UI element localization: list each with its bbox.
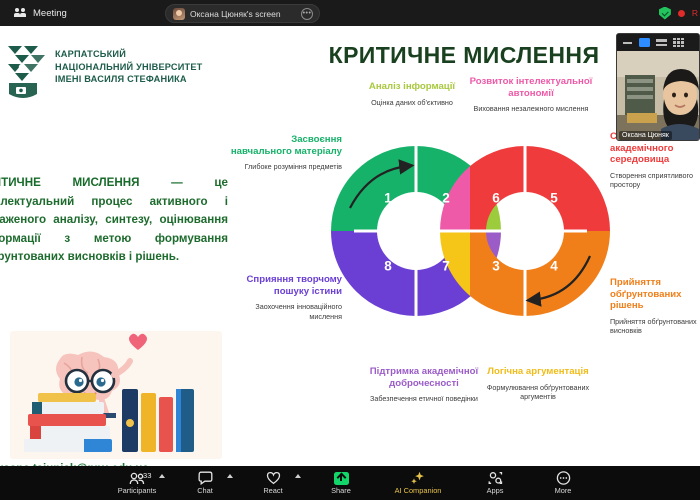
gallery-view-icon[interactable]: [673, 38, 684, 47]
callout-autonomy-subtitle: Виховання незалежного мислення: [469, 104, 593, 113]
participants-icon: [14, 8, 27, 19]
definition-paragraph: КРИТИЧНЕ МИСЛЕННЯ — це інтелектуальний п…: [0, 174, 228, 267]
toolbar-apps-label: Apps: [487, 486, 504, 495]
apps-icon: [488, 471, 503, 485]
toolbar-participants-button[interactable]: 33 Participants: [103, 466, 171, 500]
toolbar-chat-button[interactable]: Chat: [171, 466, 239, 500]
toolbar-share-button[interactable]: Share: [307, 466, 375, 500]
callout-logic-title: Логічна аргументація: [478, 366, 598, 378]
video-participant-name: Оксана Цюняк: [619, 131, 672, 140]
callout-logic-subtitle: Формулювання обґрунтованих аргументів: [478, 383, 598, 402]
callout-assimilation-title: Засвоєння навчального матеріалу: [230, 134, 342, 157]
meeting-bottom-toolbar: 33 Participants Chat React: [0, 466, 700, 500]
record-indicator: [678, 10, 685, 17]
toolbar-more-label: More: [555, 486, 572, 495]
callout-analysis: Аналіз інформації Оцінка даних об'єктивн…: [356, 81, 468, 107]
callout-analysis-title: Аналіз інформації: [356, 81, 468, 93]
callout-logic: Логічна аргументація Формулювання обґрун…: [478, 366, 598, 401]
ai-sparkle-icon: [410, 471, 426, 485]
callout-environment-subtitle: Створення сприятливого простору: [610, 171, 700, 190]
chevron-up-icon[interactable]: [295, 474, 301, 478]
callout-decisions-subtitle: Прийняття обґрунтованих висновків: [610, 317, 700, 336]
toolbar-react-label: React: [263, 486, 282, 495]
university-crest-logo: [6, 44, 46, 102]
chevron-up-icon[interactable]: [159, 474, 165, 478]
video-layout-controls: [617, 34, 699, 51]
callout-decisions-title: Прийняття обґрунтованих рішень: [610, 277, 700, 312]
toolbar-share-label: Share: [331, 486, 351, 495]
top-bar-status-group: R: [659, 0, 700, 26]
callout-creativity-subtitle: Заохочення інноваційного мислення: [230, 302, 342, 321]
toolbar-react-button[interactable]: React: [239, 466, 307, 500]
meeting-label: Meeting: [33, 8, 67, 19]
presenter-avatar: [173, 8, 185, 20]
shared-screen-slide: КАРПАТСЬКИЙ НАЦІОНАЛЬНИЙ УНІВЕРСИТЕТ ІМЕ…: [0, 26, 700, 466]
ellipsis-icon[interactable]: •••: [301, 8, 313, 20]
definition-body: це інтелектуальний процес активного і ви…: [0, 176, 228, 263]
heart-icon: [266, 471, 281, 485]
zoom-meeting-window: Meeting Оксана Цюняк's screen ••• R: [0, 0, 700, 500]
definition-lead: КРИТИЧНЕ МИСЛЕННЯ —: [0, 176, 183, 189]
callout-creativity: Сприяння творчому пошуку істини Заохочен…: [230, 274, 342, 321]
meeting-info[interactable]: Meeting: [14, 8, 67, 19]
toolbar-chat-label: Chat: [197, 486, 213, 495]
shield-check-icon[interactable]: [659, 7, 671, 20]
callout-analysis-subtitle: Оцінка даних об'єктивно: [356, 98, 468, 107]
university-name: КАРПАТСЬКИЙ НАЦІОНАЛЬНИЙ УНІВЕРСИТЕТ ІМЕ…: [55, 44, 202, 86]
self-video-panel[interactable]: Оксана Цюняк: [616, 33, 700, 141]
recording-label: R: [692, 8, 698, 18]
meeting-top-bar: Meeting Оксана Цюняк's screen ••• R: [0, 0, 700, 26]
university-name-line3: ІМЕНІ ВАСИЛЯ СТЕФАНИКА: [55, 73, 202, 86]
university-branding: КАРПАТСЬКИЙ НАЦІОНАЛЬНИЙ УНІВЕРСИТЕТ ІМЕ…: [6, 44, 202, 102]
share-screen-icon: [334, 471, 349, 485]
infinity-diagram: 1 2 3 4 5 6 7 8: [328, 86, 613, 376]
callout-creativity-title: Сприяння творчому пошуку істини: [230, 274, 342, 297]
participants-count: 33: [143, 471, 151, 480]
screen-share-pill[interactable]: Оксана Цюняк's screen •••: [165, 4, 320, 23]
callout-assimilation: Засвоєння навчального матеріалу Глибоке …: [230, 134, 342, 172]
callout-decisions: Прийняття обґрунтованих рішень Прийняття…: [610, 277, 700, 336]
presenter-share-label: Оксана Цюняк's screen: [190, 9, 281, 19]
callout-integrity: Підтримка академічної доброчесності Забе…: [365, 366, 483, 404]
callout-autonomy: Розвиток інтелектуальної автономії Вихов…: [469, 76, 593, 114]
callout-assimilation-subtitle: Глибоке розуміння предметів: [230, 162, 342, 171]
more-ellipsis-icon: [556, 471, 571, 485]
chevron-up-icon[interactable]: [227, 474, 233, 478]
speaker-view-icon[interactable]: [622, 38, 633, 47]
university-name-line1: КАРПАТСЬКИЙ: [55, 48, 202, 61]
university-name-line2: НАЦІОНАЛЬНИЙ УНІВЕРСИТЕТ: [55, 61, 202, 74]
toolbar-ai-companion-label: AI Companion: [395, 486, 442, 495]
toolbar-apps-button[interactable]: Apps: [461, 466, 529, 500]
strip-view-icon[interactable]: [656, 38, 667, 47]
chat-icon: [198, 471, 213, 485]
video-feed: Оксана Цюняк: [617, 51, 699, 141]
toolbar-more-button[interactable]: More: [529, 466, 597, 500]
slide-left-column: КАРПАТСЬКИЙ НАЦІОНАЛЬНИЙ УНІВЕРСИТЕТ ІМЕ…: [0, 26, 228, 466]
callout-integrity-subtitle: Забезпечення етичної поведінки: [365, 394, 483, 403]
toolbar-ai-companion-button[interactable]: AI Companion: [375, 466, 461, 500]
brain-with-books-illustration: [10, 331, 222, 459]
callout-integrity-title: Підтримка академічної доброчесності: [365, 366, 483, 389]
active-view-icon[interactable]: [639, 38, 650, 47]
callout-autonomy-title: Розвиток інтелектуальної автономії: [469, 76, 593, 99]
toolbar-participants-label: Participants: [118, 486, 157, 495]
